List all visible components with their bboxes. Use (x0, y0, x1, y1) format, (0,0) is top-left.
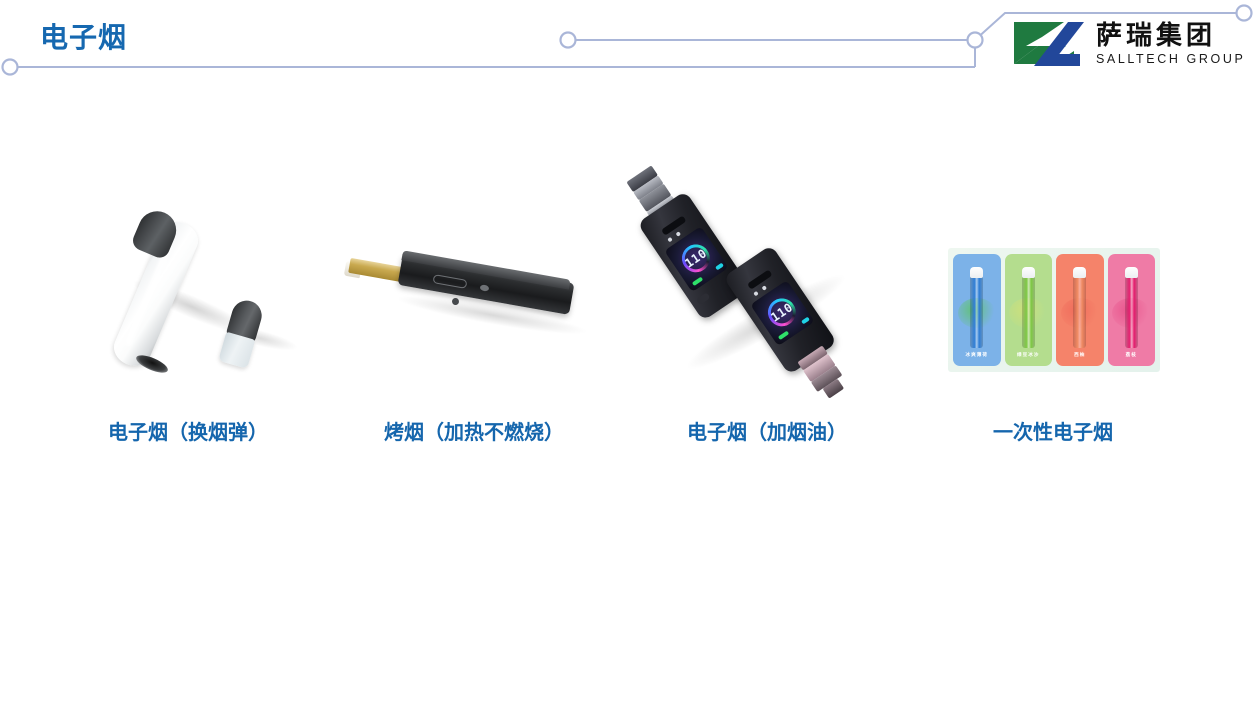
product-card-heat-not-burn[interactable]: 烤烟（加热不燃烧） (329, 188, 619, 468)
page-title: 电子烟 (40, 16, 127, 56)
product-caption: 电子烟（换烟弹） (43, 416, 333, 445)
deco-node-left (3, 60, 18, 75)
screen-battery-bar (778, 331, 789, 340)
box-mod-shell: 110 (637, 191, 751, 321)
product-caption: 烤烟（加热不燃烧） (329, 416, 619, 445)
product-caption: 一次性电子烟 (908, 416, 1198, 445)
flavor-label: 西柚 (1056, 352, 1104, 358)
disposable-device-body (1073, 274, 1086, 348)
disposable-card-mint: 冰爽薄荷 (953, 254, 1001, 366)
box-mod-top-bar (661, 215, 686, 235)
disposable-vape-set-image: 冰爽薄荷 绿豆冰沙 西柚 (908, 188, 1198, 388)
disposable-mouthpiece (1022, 267, 1035, 278)
disposable-card-mungbean: 绿豆冰沙 (1005, 254, 1053, 366)
slide-root: 电子烟 萨瑞集团 SALLTECH GROUP (0, 0, 1257, 706)
pod-cartridge (217, 297, 267, 368)
deco-node-junction (968, 33, 983, 48)
hnb-illustration (337, 246, 617, 356)
disposable-device-body (1022, 274, 1035, 348)
heat-not-burn-device-image (329, 188, 619, 388)
white-pod-vape-pen-image (43, 188, 333, 388)
box-mod-side-button (696, 292, 711, 305)
company-logo: 萨瑞集团 SALLTECH GROUP (1010, 18, 1245, 70)
box-mod-led-a (667, 237, 673, 243)
box-mod-device-front: 110 (723, 245, 843, 384)
pen-bottom-tip (134, 352, 170, 376)
salltech-logo-mark-icon (1010, 18, 1088, 70)
box-mod-device-back: 110 (637, 191, 757, 330)
disposable-device-body (1125, 274, 1138, 348)
box-mod-led-b (762, 285, 768, 291)
disposable-card-grapefruit: 西柚 (1056, 254, 1104, 366)
screen-mode-bar (715, 263, 724, 271)
product-card-disposable[interactable]: 冰爽薄荷 绿豆冰沙 西柚 (908, 188, 1198, 468)
deco-node-middle (561, 33, 576, 48)
product-card-box-mod[interactable]: 110 (622, 188, 912, 468)
flavor-label: 绿豆冰沙 (1005, 352, 1053, 358)
logo-name-cn: 萨瑞集团 (1096, 22, 1245, 49)
logo-name-en: SALLTECH GROUP (1096, 52, 1245, 66)
disposable-mouthpiece (1073, 267, 1086, 278)
disposable-card-lychee: 荔枝 (1108, 254, 1156, 366)
screen-mode-bar (801, 317, 810, 325)
product-caption: 电子烟（加烟油） (622, 416, 912, 445)
box-mod-screen: 110 (664, 226, 728, 292)
product-card-pod-vape[interactable]: 电子烟（换烟弹） (43, 188, 333, 468)
logo-text-block: 萨瑞集团 SALLTECH GROUP (1096, 22, 1245, 65)
disposable-device-body (970, 274, 983, 348)
flavor-label: 荔枝 (1108, 352, 1156, 358)
box-mod-illustration: 110 (642, 190, 892, 388)
product-grid: 电子烟（换烟弹） 烤烟（加热不燃烧） (0, 188, 1257, 468)
screen-battery-bar (692, 277, 703, 286)
box-mod-top-bar (747, 269, 772, 289)
pod-pen-illustration (79, 200, 279, 390)
flavor-label: 冰爽薄荷 (953, 352, 1001, 358)
box-mod-led-a (753, 291, 759, 297)
slide-header: 电子烟 萨瑞集团 SALLTECH GROUP (0, 0, 1257, 96)
box-mod-vape-image: 110 (622, 188, 912, 388)
box-mod-led-b (676, 231, 682, 237)
disposable-mouthpiece (1125, 267, 1138, 278)
disposable-mouthpiece (970, 267, 983, 278)
disposable-vape-grid: 冰爽薄荷 绿豆冰沙 西柚 (948, 248, 1160, 372)
